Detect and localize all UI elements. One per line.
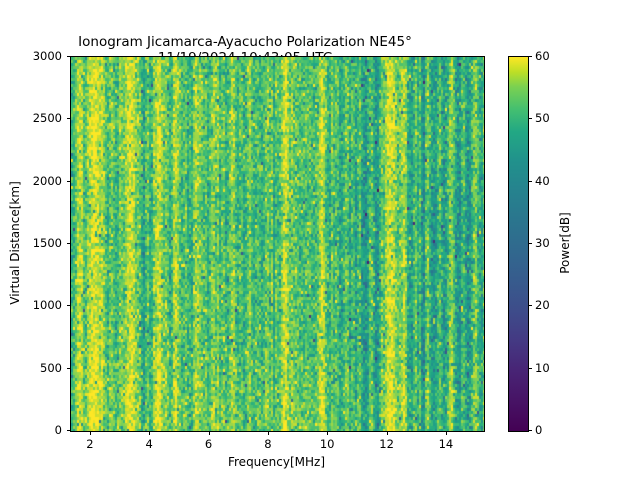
y-tick-mark [67, 118, 71, 119]
colorbar-tick-mark [529, 118, 533, 119]
y-tick-mark [67, 243, 71, 244]
colorbar-gradient [509, 57, 528, 431]
y-tick-mark [67, 181, 71, 182]
x-tick-mark [446, 431, 447, 435]
y-tick-mark [67, 430, 71, 431]
colorbar-tick-mark [529, 181, 533, 182]
x-tick-mark [90, 431, 91, 435]
x-tick-label: 10 [320, 437, 335, 451]
colorbar-tick-mark [529, 243, 533, 244]
x-axis-label: Frequency[MHz] [70, 455, 483, 469]
y-tick-label: 3000 [33, 49, 62, 63]
colorbar-tick-label: 10 [535, 361, 550, 375]
y-tick-mark [67, 368, 71, 369]
colorbar-tick-label: 30 [535, 236, 550, 250]
colorbar-tick-label: 60 [535, 49, 550, 63]
x-tick-label: 4 [146, 437, 153, 451]
colorbar [508, 56, 529, 432]
colorbar-tick-mark [529, 56, 533, 57]
colorbar-tick-label: 50 [535, 111, 550, 125]
x-tick-label: 12 [379, 437, 394, 451]
x-tick-label: 8 [264, 437, 271, 451]
chart-title-line1: Ionogram Jicamarca-Ayacucho Polarization… [78, 34, 412, 50]
y-tick-mark [67, 305, 71, 306]
colorbar-tick-mark [529, 430, 533, 431]
colorbar-label: Power[dB] [558, 56, 572, 430]
y-tick-label: 0 [55, 423, 62, 437]
colorbar-tick-label: 20 [535, 298, 550, 312]
x-tick-mark [268, 431, 269, 435]
ionogram-figure: Ionogram Jicamarca-Ayacucho Polarization… [0, 0, 640, 480]
x-tick-mark [387, 431, 388, 435]
x-tick-label: 2 [86, 437, 93, 451]
y-tick-label: 1500 [33, 236, 62, 250]
colorbar-tick-label: 0 [535, 423, 542, 437]
y-tick-label: 500 [40, 361, 62, 375]
colorbar-tick-label: 40 [535, 174, 550, 188]
ionogram-heatmap [71, 57, 484, 431]
y-axis-label: Virtual Distance[km] [8, 56, 22, 430]
y-tick-label: 2500 [33, 111, 62, 125]
x-tick-label: 14 [439, 437, 454, 451]
x-tick-mark [209, 431, 210, 435]
y-tick-mark [67, 56, 71, 57]
x-tick-mark [327, 431, 328, 435]
y-tick-label: 2000 [33, 174, 62, 188]
x-tick-mark [149, 431, 150, 435]
x-tick-label: 6 [205, 437, 212, 451]
colorbar-tick-mark [529, 305, 533, 306]
ionogram-plot-area [70, 56, 485, 432]
y-tick-label: 1000 [33, 298, 62, 312]
colorbar-tick-mark [529, 368, 533, 369]
